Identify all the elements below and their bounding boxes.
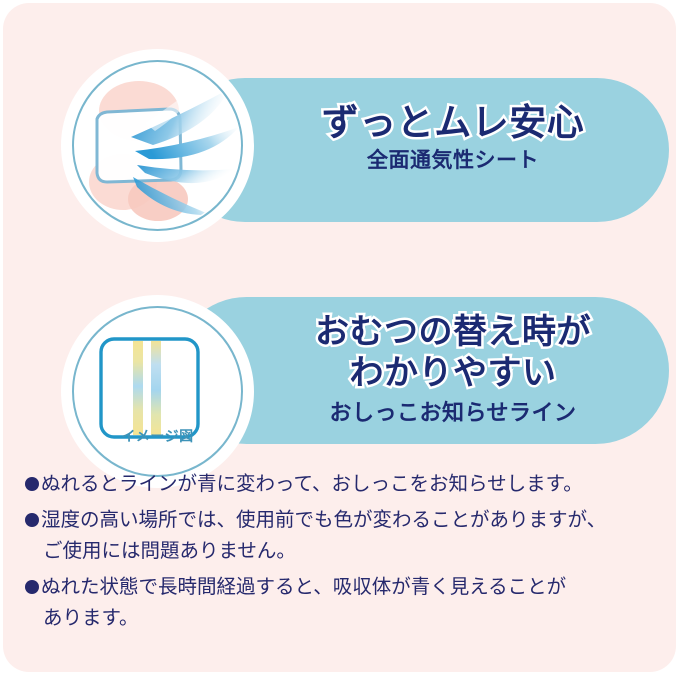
- feature-headline-2-line2: わかりやすい: [253, 353, 653, 394]
- feature-headline-1: ずっとムレ安心: [253, 104, 653, 141]
- note-item: ぬれた状態で長時間経過すると、吸収体が青く見えることが あります。: [25, 572, 661, 635]
- product-feature-poster: ずっとムレ安心 全面通気性シート: [3, 3, 676, 672]
- note-item: 湿度の高い場所では、使用前でも色が変わることがありますが、 ご使用には問題ありま…: [25, 505, 661, 568]
- bullet-icon: [25, 513, 39, 527]
- wetness-indicator-lines-icon: [61, 295, 254, 488]
- feature-text-1: ずっとムレ安心 全面通気性シート: [253, 104, 653, 171]
- note-text: ぬれるとラインが青に変わって、おしっこをお知らせします。: [41, 469, 661, 501]
- bullet-icon: [25, 580, 39, 594]
- note-text: ぬれた状態で長時間経過すると、吸収体が青く見えることが あります。: [41, 572, 661, 635]
- note-line-2: あります。: [41, 603, 661, 635]
- feature-subline-1: 全面通気性シート: [253, 150, 653, 171]
- note-line-2: ご使用には問題ありません。: [41, 536, 661, 568]
- breathable-diaper-airflow-icon: [61, 49, 254, 242]
- feature-text-2: おむつの替え時が わかりやすい おしっこお知らせライン: [253, 312, 653, 424]
- bullet-icon: [25, 477, 39, 491]
- note-item: ぬれるとラインが青に変わって、おしっこをお知らせします。: [25, 469, 661, 501]
- note-text: 湿度の高い場所では、使用前でも色が変わることがありますが、 ご使用には問題ありま…: [41, 505, 661, 568]
- feature-subline-2: おしっこお知らせライン: [253, 402, 653, 424]
- note-line-1: ぬれた状態で長時間経過すると、吸収体が青く見えることが: [41, 576, 566, 598]
- notes-list: ぬれるとラインが青に変わって、おしっこをお知らせします。 湿度の高い場所では、使…: [25, 469, 661, 639]
- note-line-1: 湿度の高い場所では、使用前でも色が変わることがありますが、: [41, 509, 606, 531]
- feature-icon-circle-2: イメージ図: [61, 295, 254, 488]
- icon-caption-label: イメージ図: [61, 426, 254, 446]
- note-line-1: ぬれるとラインが青に変わって、おしっこをお知らせします。: [41, 473, 583, 495]
- feature-icon-circle-1: [61, 49, 254, 242]
- feature-headline-2-line1: おむつの替え時が: [253, 312, 653, 353]
